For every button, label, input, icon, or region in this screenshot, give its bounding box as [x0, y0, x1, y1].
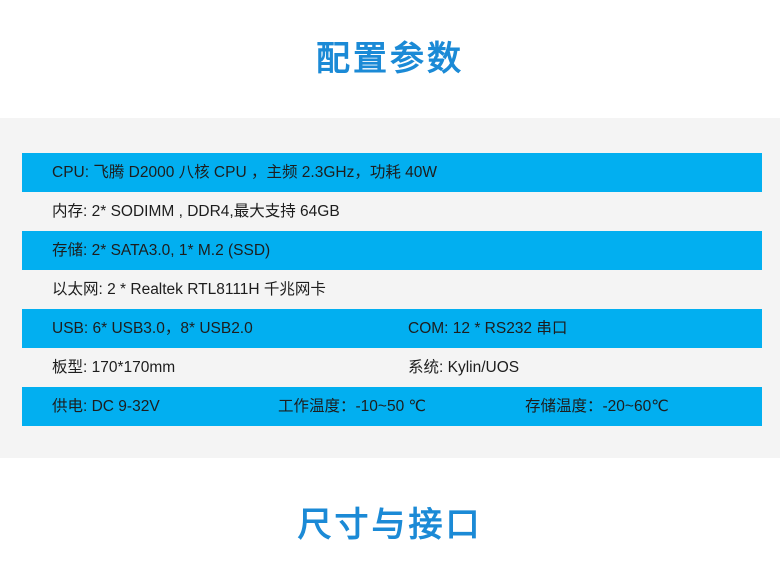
table-row: 供电: DC 9-32V工作温度：-10~50 ℃存储温度：-20~60℃: [22, 387, 762, 426]
table-row: 板型: 170*170mm系统: Kylin/UOS: [22, 348, 762, 387]
table-row: 内存: 2* SODIMM , DDR4,最大支持 64GB: [22, 192, 762, 231]
spec-cell: 以太网: 2 * Realtek RTL8111H 千兆网卡: [52, 270, 326, 309]
page-title-dimensions: 尺寸与接口: [0, 508, 780, 542]
spec-cell: COM: 12 * RS232 串口: [408, 309, 567, 348]
page-title-config: 配置参数: [0, 42, 780, 76]
table-row: 存储: 2* SATA3.0, 1* M.2 (SSD): [22, 231, 762, 270]
spec-cell: CPU: 飞腾 D2000 八核 CPU ，主频 2.3GHz，功耗 40W: [52, 153, 437, 192]
spec-table: CPU: 飞腾 D2000 八核 CPU ，主频 2.3GHz，功耗 40W内存…: [22, 153, 762, 426]
spec-cell: 供电: DC 9-32V: [52, 387, 160, 426]
spec-panel: CPU: 飞腾 D2000 八核 CPU ，主频 2.3GHz，功耗 40W内存…: [0, 118, 780, 458]
config-section-title-block: 配置参数: [0, 42, 780, 76]
table-row: 以太网: 2 * Realtek RTL8111H 千兆网卡: [22, 270, 762, 309]
spec-cell: 存储温度：-20~60℃: [525, 387, 669, 426]
spec-cell: 工作温度：-10~50 ℃: [278, 387, 426, 426]
spec-cell: 存储: 2* SATA3.0, 1* M.2 (SSD): [52, 231, 270, 270]
spec-cell: 内存: 2* SODIMM , DDR4,最大支持 64GB: [52, 192, 340, 231]
table-row: USB: 6* USB3.0，8* USB2.0COM: 12 * RS232 …: [22, 309, 762, 348]
spec-cell: 系统: Kylin/UOS: [408, 348, 519, 387]
dimensions-section-title-block: 尺寸与接口: [0, 508, 780, 542]
spec-cell: USB: 6* USB3.0，8* USB2.0: [52, 309, 253, 348]
spec-cell: 板型: 170*170mm: [52, 348, 175, 387]
table-row: CPU: 飞腾 D2000 八核 CPU ，主频 2.3GHz，功耗 40W: [22, 153, 762, 192]
